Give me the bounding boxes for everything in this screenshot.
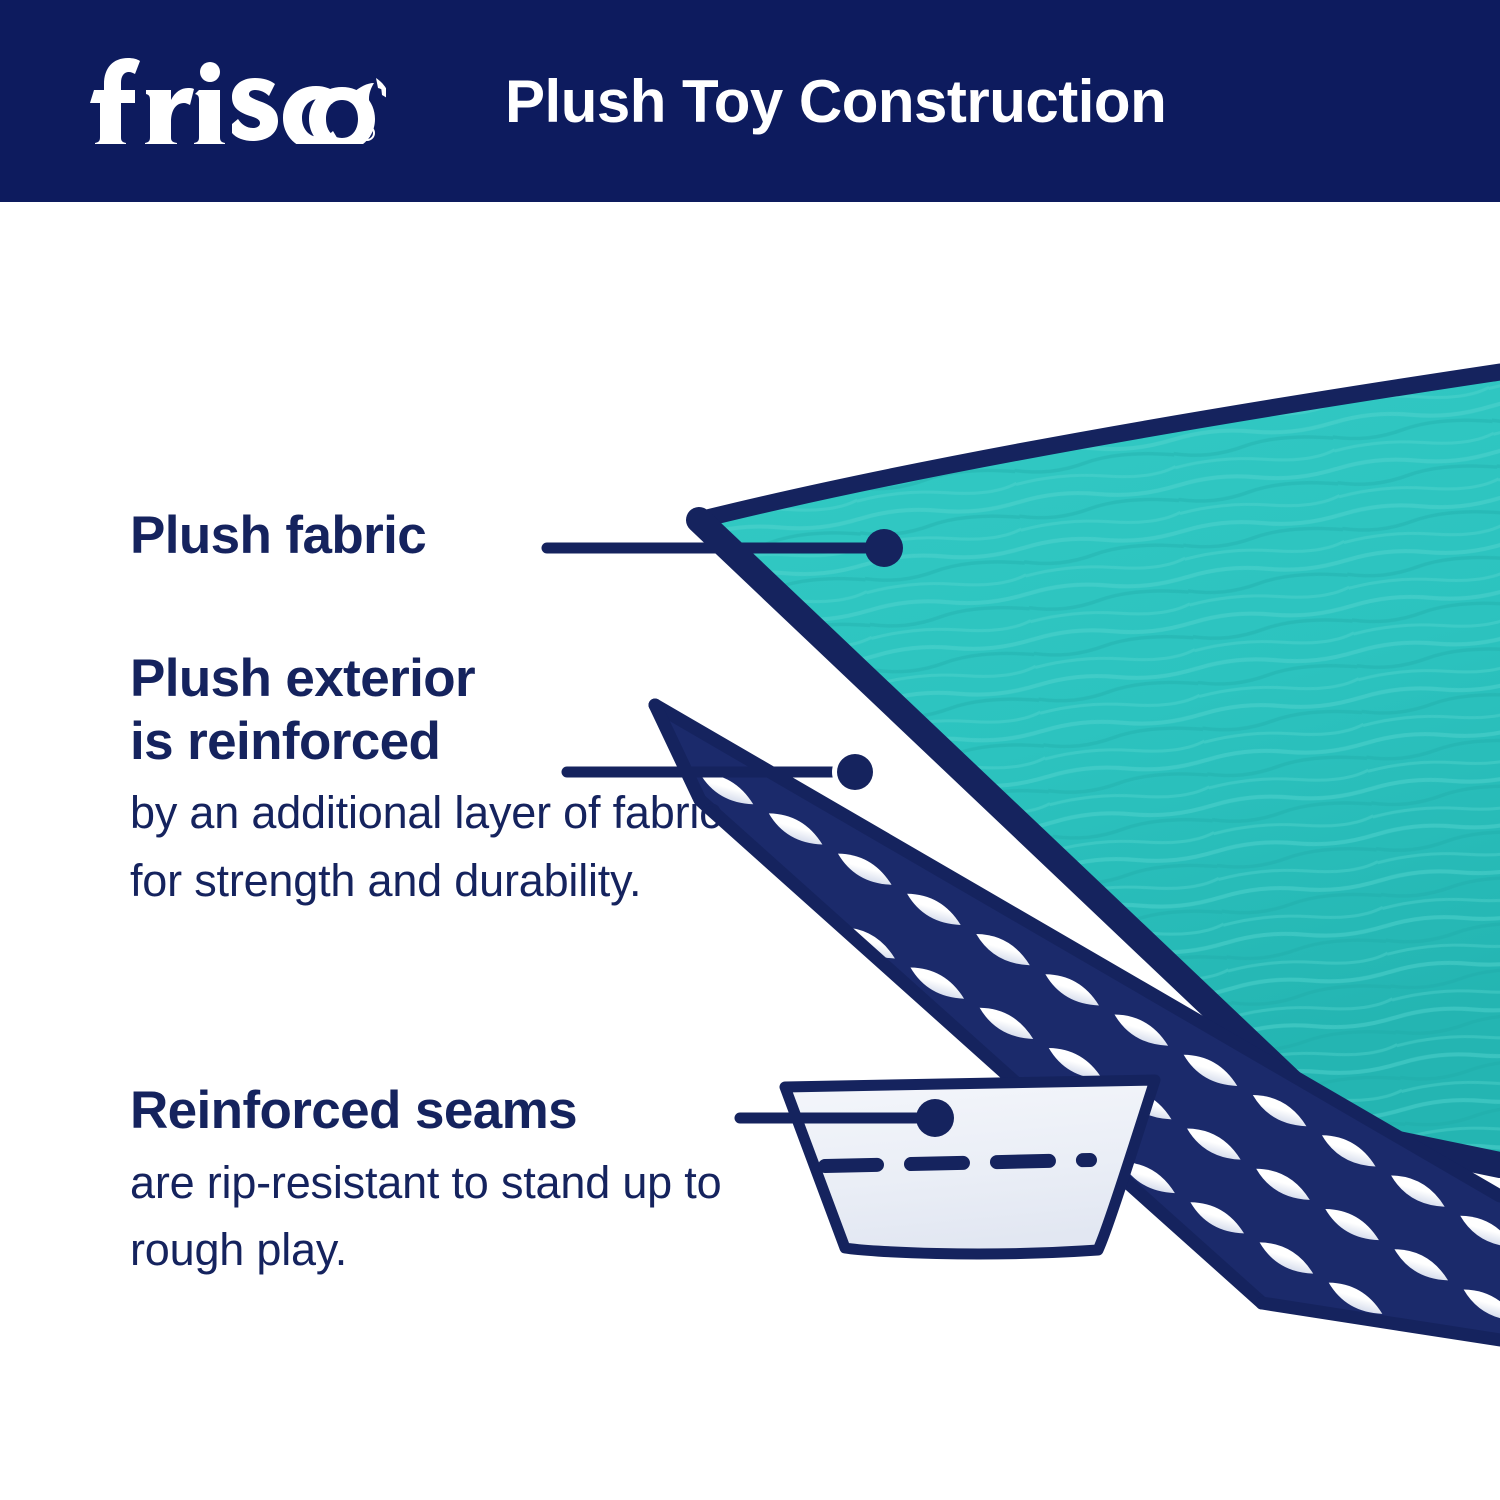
callout-label-reinforced-seams: Reinforced seams are rip-resistant to st… — [130, 1080, 790, 1284]
seam-flap-layer — [785, 1080, 1155, 1254]
infographic-page: R Plush Toy Construction — [0, 0, 1500, 1500]
dashed-stitch-line — [825, 1160, 1090, 1166]
callout-label-plush-exterior: Plush exterior is reinforced by an addit… — [130, 648, 730, 914]
callout-body-plush-exterior: by an additional layer of fabric for str… — [130, 779, 730, 914]
callout-dot-plush-exterior — [837, 754, 873, 790]
callout-heading-plush-fabric: Plush fabric — [130, 505, 426, 568]
callout-dot-reinforced-seams — [916, 1099, 954, 1137]
callout-heading-line2-plush-exterior: is reinforced — [130, 711, 730, 774]
svg-text:R: R — [364, 129, 370, 139]
header-bar: R Plush Toy Construction — [0, 0, 1500, 202]
callout-body-reinforced-seams: are rip-resistant to stand up to rough p… — [130, 1149, 790, 1284]
page-title: Plush Toy Construction — [505, 0, 1166, 202]
callout-heading-reinforced-seams: Reinforced seams — [130, 1080, 790, 1143]
frisco-logo: R — [86, 48, 386, 144]
callout-dot-plush-fabric — [865, 529, 903, 567]
callout-label-plush-fabric: Plush fabric — [130, 505, 426, 568]
callout-heading-line1-plush-exterior: Plush exterior — [130, 648, 730, 711]
